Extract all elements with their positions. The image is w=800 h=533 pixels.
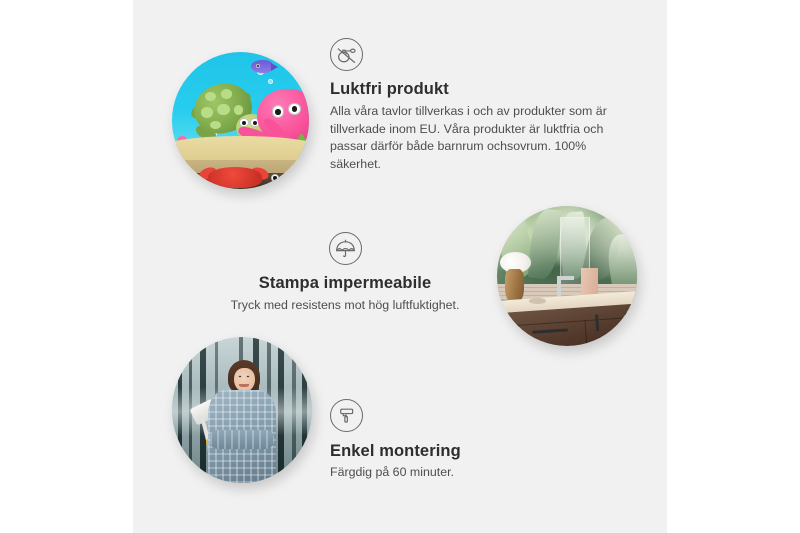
- crab-body: [208, 167, 263, 188]
- turtle-shell-spot: [221, 89, 232, 99]
- promo-feature-graphic: Luktfri produkt Alla våra tavlor tillver…: [0, 0, 800, 533]
- feature-body: Färgdig på 60 minuter.: [330, 464, 610, 482]
- octopus-eye: [288, 103, 300, 115]
- woman-crossed-arms: [210, 430, 274, 449]
- crab-eye: [271, 174, 279, 182]
- paint-roller-icon: [330, 399, 363, 432]
- soap-dish: [529, 298, 546, 304]
- feature-title: Stampa impermeabile: [200, 274, 490, 293]
- turtle-shell-spot: [205, 92, 216, 102]
- media-circle-aquarium-kids-wallpaper: [172, 52, 309, 189]
- woman-face: [234, 368, 255, 393]
- vanity-door-seam: [584, 320, 587, 346]
- feature-body: Tryck med resistens mot hög luftfuktighe…: [200, 297, 490, 315]
- vanity-drawer-seam: [510, 316, 636, 326]
- feature-easy-assembly: Enkel montering Färgdig på 60 minuter.: [330, 399, 610, 482]
- feature-waterproof-print: Stampa impermeabile Tryck med resistens …: [200, 232, 490, 315]
- bubble-icon: [268, 79, 273, 84]
- fish-tail-icon: [271, 63, 278, 71]
- turtle-shell-spot: [210, 121, 221, 129]
- woman-smile: [239, 384, 249, 387]
- turtle-shell-spot: [201, 107, 213, 118]
- media-circle-bathroom-tropical-wallpaper: [497, 206, 637, 346]
- turtle-shell-spot: [234, 105, 244, 115]
- vanity-drawer-handle: [533, 329, 569, 334]
- gold-vase: [505, 269, 523, 303]
- no-smell-perfume-sprayer-icon: [330, 38, 363, 71]
- vanity-door-handle: [595, 314, 599, 332]
- feature-title: Luktfri produkt: [330, 80, 630, 99]
- octopus-eye: [272, 105, 284, 117]
- media-circle-painter-forest-wallpaper: [172, 337, 312, 483]
- vanity-door-handle: [625, 312, 629, 330]
- feature-title: Enkel montering: [330, 442, 610, 461]
- turtle-shell-spot: [217, 104, 229, 115]
- feature-odourless-product: Luktfri produkt Alla våra tavlor tillver…: [330, 38, 630, 173]
- feature-body: Alla våra tavlor tillverkas i och av pro…: [330, 103, 615, 173]
- umbrella-icon: [329, 232, 362, 265]
